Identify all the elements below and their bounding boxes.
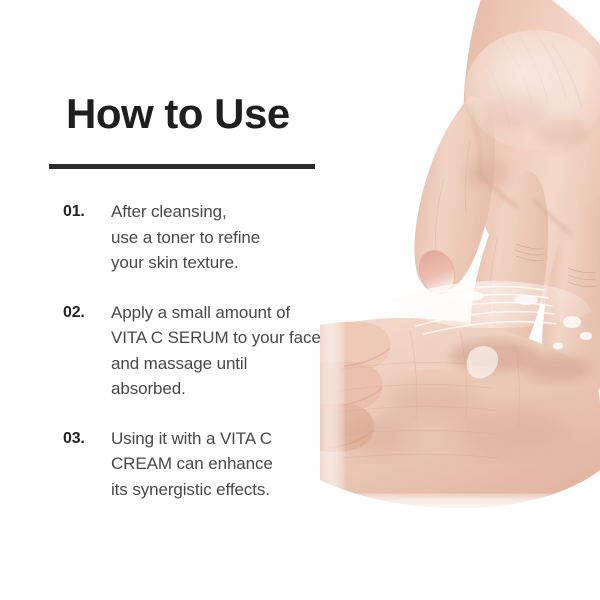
step-item-03: 03. Using it with a VITA C CREAM can enh… [0,426,360,503]
step-item-01: 01. After cleansing, use a toner to refi… [0,199,360,276]
step-item-02: 02. Apply a small amount of VITA C SERUM… [0,300,360,402]
step-number-02: 02. [0,300,111,326]
step-text-03: Using it with a VITA C CREAM can enhance… [111,426,360,503]
serum-gel [390,281,592,378]
title-divider-rule [49,164,315,169]
instructions-panel: How to Use 01. After cleansing, use a to… [0,0,360,600]
hands-illustration [320,0,600,600]
step-number-03: 03. [0,426,111,452]
step-text-01: After cleansing, use a toner to refine y… [111,199,360,276]
steps-list: 01. After cleansing, use a toner to refi… [0,199,360,502]
index-nail [413,245,461,299]
page-title: How to Use [66,92,290,136]
hands-applying-serum-photo [320,0,600,600]
upper-hand [413,0,600,410]
step-number-01: 01. [0,199,111,225]
lower-hand [320,318,600,508]
how-to-use-page: How to Use 01. After cleansing, use a to… [0,0,600,600]
step-text-02: Apply a small amount of VITA C SERUM to … [111,300,360,402]
